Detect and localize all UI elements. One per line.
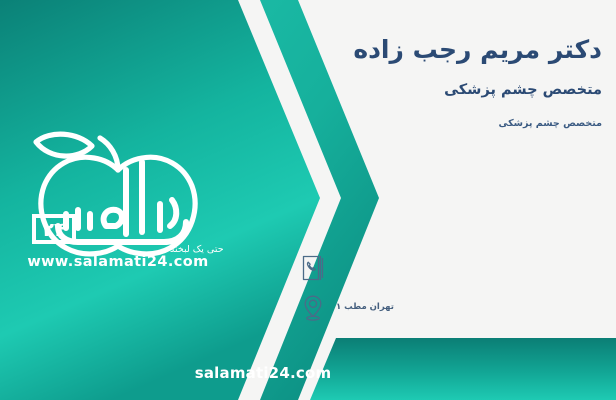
contact-row-location[interactable]: تهران مطب ۱ — [298, 288, 598, 328]
doctor-specialty-secondary: متخصص چشم پزشکی — [272, 118, 602, 130]
doctor-specialty: متخصص چشم پزشکی — [272, 81, 602, 100]
footer-site-url[interactable]: salamati24.com — [0, 364, 616, 382]
logo-website: www.salamati24.com — [27, 254, 208, 268]
doctor-name: دکتر مریم رجب زاده — [272, 34, 602, 65]
contact-label-location: تهران مطب ۱ — [336, 302, 394, 314]
phone-book-icon[interactable] — [298, 252, 328, 284]
doctor-info: دکتر مریم رجب زاده متخصص چشم پزشکی متخصص… — [272, 34, 602, 130]
logo-badge-number: ۲۴ — [42, 219, 65, 241]
doctor-profile-card: ۲۴ به راحتی یک لبخند www.salamati24.com … — [0, 0, 616, 400]
contact-row-phone[interactable] — [298, 248, 598, 288]
contact-list: تهران مطب ۱ — [298, 248, 598, 328]
location-pin-icon[interactable] — [298, 292, 328, 324]
salamati24-logo: ۲۴ به راحتی یک لبخند www.salamati24.com — [14, 108, 224, 268]
